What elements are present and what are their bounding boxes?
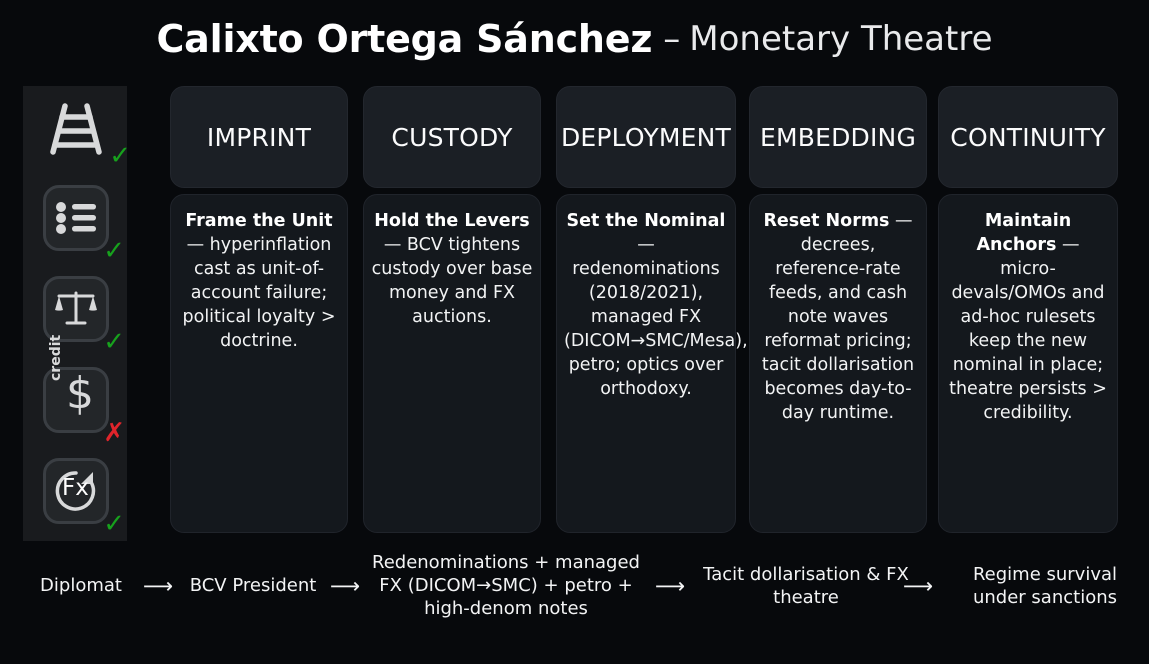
- page-title-subject: Calixto Ortega Sánchez: [156, 17, 652, 61]
- flow-step-diplomat: Diplomat: [20, 574, 142, 597]
- stage-header-imprint: IMPRINT: [170, 86, 348, 188]
- stage-body-deployment: Set the Nominal — redenominations (2018/…: [556, 194, 736, 533]
- stage-column-imprint[interactable]: IMPRINT Frame the Unit — hyperinflation …: [170, 86, 348, 188]
- flow-step-dollarisation: Tacit dollarisation & FX theatre: [700, 563, 912, 609]
- rail-item-scales[interactable]: ✓: [23, 268, 127, 359]
- credit-label: credit: [48, 335, 64, 381]
- stage-header-label: DEPLOYMENT: [561, 123, 731, 152]
- stage-header-custody: CUSTODY: [363, 86, 541, 188]
- stage-header-embedding: EMBEDDING: [749, 86, 927, 188]
- flow-arrow-4: ⟶: [903, 576, 933, 597]
- rail-item-railway[interactable]: ✓: [23, 86, 127, 177]
- fx-exchange-icon: Fx: [43, 458, 109, 524]
- stage-column-deployment[interactable]: DEPLOYMENT Set the Nominal — redenominat…: [556, 86, 736, 188]
- status-cross-icon: ✗: [103, 420, 125, 446]
- stage-header-label: CONTINUITY: [950, 123, 1105, 152]
- stage-lead: Set the Nominal: [567, 211, 726, 231]
- stage-body-custody: Hold the Levers — BCV tightens custody o…: [363, 194, 541, 533]
- stage-lead: Reset Norms: [763, 211, 889, 231]
- flow-step-bcv-president: BCV President: [180, 574, 326, 597]
- stage-column-custody[interactable]: CUSTODY Hold the Levers — BCV tightens c…: [363, 86, 541, 188]
- stage-header-label: EMBEDDING: [760, 123, 916, 152]
- stage-text: — decrees, reference-rate feeds, and cas…: [762, 211, 914, 423]
- stage-text: — BCV tightens custody over base money a…: [372, 235, 533, 327]
- stage-header-label: CUSTODY: [391, 123, 512, 152]
- railway-track-icon: [37, 90, 115, 168]
- fx-label: Fx: [62, 477, 89, 500]
- rail-item-fx[interactable]: Fx ✓: [23, 450, 127, 541]
- status-check-icon: ✓: [103, 511, 125, 537]
- flow-arrow-3: ⟶: [655, 576, 685, 597]
- stage-body-continuity: Maintain Anchors — micro-devals/OMOs and…: [938, 194, 1118, 533]
- rail-item-list[interactable]: ✓: [23, 177, 127, 268]
- stage-body-imprint: Frame the Unit — hyperinflation cast as …: [170, 194, 348, 533]
- page-title-separator: –: [663, 19, 680, 59]
- icon-rail: ✓ ✓ ✓: [23, 86, 127, 541]
- page-title: Calixto Ortega Sánchez – Monetary Theatr…: [0, 8, 1149, 70]
- flow-step-redenominations: Redenominations + managed FX (DICOM→SMC)…: [362, 551, 650, 620]
- stage-body-embedding: Reset Norms — decrees, reference-rate fe…: [749, 194, 927, 533]
- bullet-list-icon: [43, 185, 109, 251]
- flow-arrow-1: ⟶: [143, 576, 173, 597]
- stage-lead: Hold the Levers: [374, 211, 529, 231]
- flow-footer: Diplomat ⟶ BCV President ⟶ Redenominatio…: [0, 545, 1149, 635]
- stage-text: — hyperinflation cast as unit-of-account…: [183, 235, 336, 351]
- status-check-icon: ✓: [109, 143, 131, 169]
- stage-column-continuity[interactable]: CONTINUITY Maintain Anchors — micro-deva…: [938, 86, 1118, 188]
- stage-lead: Frame the Unit: [185, 211, 332, 231]
- stage-header-continuity: CONTINUITY: [938, 86, 1118, 188]
- stage-text: — redenominations (2018/2021), managed F…: [564, 235, 748, 399]
- stage-header-label: IMPRINT: [207, 123, 311, 152]
- status-check-icon: ✓: [103, 329, 125, 355]
- flow-step-regime-survival: Regime survival under sanctions: [948, 563, 1142, 609]
- status-check-icon: ✓: [103, 238, 125, 264]
- page-title-theme: Monetary Theatre: [689, 19, 992, 59]
- balance-scales-icon: [43, 276, 109, 342]
- stage-column-embedding[interactable]: EMBEDDING Reset Norms — decrees, referen…: [749, 86, 927, 188]
- stage-header-deployment: DEPLOYMENT: [556, 86, 736, 188]
- stage-text: — micro-devals/OMOs and ad-hoc rulesets …: [949, 235, 1107, 423]
- rail-item-credit[interactable]: credit $ ✗: [23, 359, 127, 450]
- flow-arrow-2: ⟶: [330, 576, 360, 597]
- credit-dollar-icon: credit $: [43, 367, 109, 433]
